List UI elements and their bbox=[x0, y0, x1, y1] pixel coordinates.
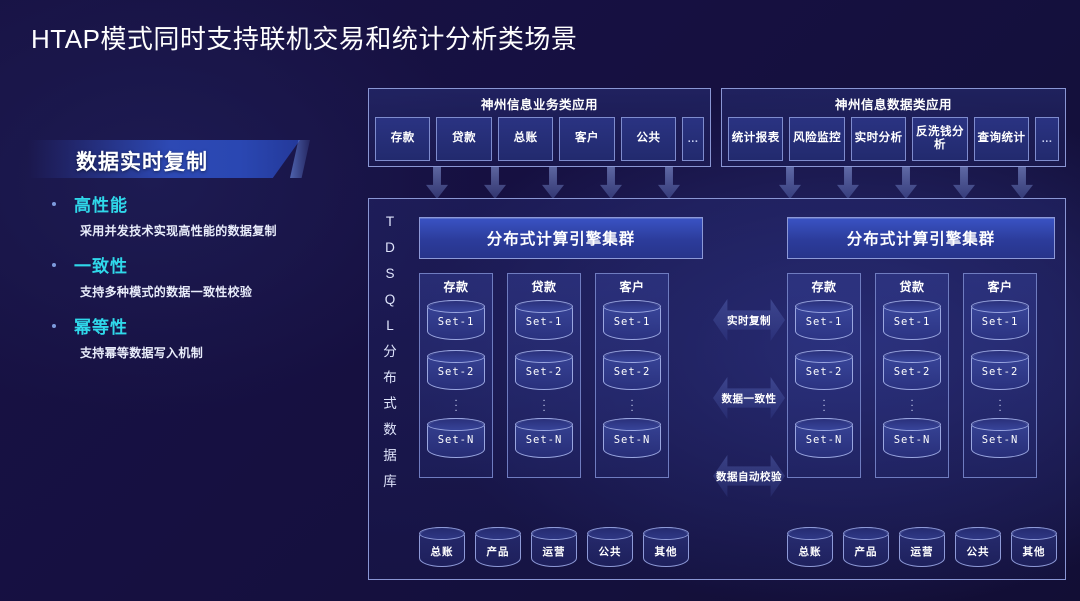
feature-item-high-performance: 高性能 采用并发技术实现高性能的数据复制 bbox=[52, 191, 360, 239]
feature-title: 一致性 bbox=[74, 252, 360, 277]
set-columns: 存款 Set-1 Set-2 ... Set-N 贷款 Set-1 Set-2 … bbox=[787, 273, 1055, 478]
app-group-title: 神州信息数据类应用 bbox=[728, 94, 1059, 113]
set-label: Set-N bbox=[428, 434, 484, 446]
bottom-cylinder: 运营 bbox=[899, 527, 945, 567]
set-column: 客户 Set-1 Set-2 ... Set-N bbox=[963, 273, 1037, 478]
arrow-down-icon bbox=[779, 167, 801, 199]
arrow-down-icon bbox=[1011, 167, 1033, 199]
bottom-cylinders-right: 总账 产品 运营 公共 其他 bbox=[787, 527, 1057, 567]
page-title: HTAP模式同时支持联机交易和统计分析类场景 bbox=[31, 19, 577, 56]
sync-arrow-label: 数据一致性 bbox=[722, 391, 777, 406]
set-label: Set-N bbox=[516, 434, 572, 446]
engine-bar: 分布式计算引擎集群 bbox=[419, 217, 703, 259]
set-cylinder: Set-2 bbox=[427, 350, 485, 390]
vertical-dots-icon: ... bbox=[910, 396, 913, 411]
sync-arrow-label: 实时复制 bbox=[727, 313, 771, 328]
feature-item-consistency: 一致性 支持多种模式的数据一致性校验 bbox=[52, 252, 360, 300]
bottom-cylinder-label: 运营 bbox=[532, 544, 576, 559]
set-label: Set-1 bbox=[428, 316, 484, 328]
set-columns: 存款 Set-1 Set-2 ... Set-N 贷款 Set-1 Set-2 … bbox=[419, 273, 703, 478]
arrow-down-icon bbox=[542, 167, 564, 199]
tdsql-vertical-label: T D S Q L 分 布 式 数 据 库 bbox=[379, 209, 401, 495]
bottom-cylinders-left: 总账 产品 运营 公共 其他 bbox=[419, 527, 689, 567]
tdsql-label-char: 布 bbox=[379, 365, 401, 391]
cluster-right: 分布式计算引擎集群 存款 Set-1 Set-2 ... Set-N 贷款 Se… bbox=[787, 217, 1055, 478]
bottom-cylinder: 总账 bbox=[787, 527, 833, 567]
set-cylinder: Set-1 bbox=[603, 300, 661, 340]
set-cylinder: Set-N bbox=[971, 418, 1029, 458]
bottom-cylinder-label: 其他 bbox=[1012, 544, 1056, 559]
tdsql-label-char: 式 bbox=[379, 391, 401, 417]
tdsql-label-char: Q bbox=[379, 287, 401, 313]
set-label: Set-N bbox=[796, 434, 852, 446]
app-cell: 风险监控 bbox=[789, 117, 844, 161]
set-cylinder: Set-1 bbox=[795, 300, 853, 340]
vertical-dots-icon: ... bbox=[542, 396, 545, 411]
arrow-down-icon bbox=[600, 167, 622, 199]
app-group-business: 神州信息业务类应用 存款 贷款 总账 客户 公共 ... bbox=[368, 88, 711, 167]
app-cell: 统计报表 bbox=[728, 117, 783, 161]
arrow-down-icon bbox=[895, 167, 917, 199]
set-label: Set-1 bbox=[884, 316, 940, 328]
set-cylinder: Set-N bbox=[515, 418, 573, 458]
set-cylinder: Set-N bbox=[883, 418, 941, 458]
bullet-dot-icon bbox=[52, 202, 56, 206]
app-cell: 客户 bbox=[559, 117, 614, 161]
feature-title: 高性能 bbox=[74, 191, 360, 216]
app-row: 存款 贷款 总账 客户 公共 ... bbox=[375, 117, 704, 161]
bottom-cylinder: 公共 bbox=[955, 527, 1001, 567]
arrow-row-data bbox=[721, 167, 1066, 199]
feature-description: 支持幂等数据写入机制 bbox=[80, 344, 360, 361]
arrow-down-icon bbox=[837, 167, 859, 199]
bottom-cylinder: 运营 bbox=[531, 527, 577, 567]
architecture-diagram: 神州信息业务类应用 存款 贷款 总账 客户 公共 ... 神州信息数据类应用 统… bbox=[368, 88, 1066, 580]
app-cell-ellipsis: ... bbox=[1035, 117, 1059, 161]
set-label: Set-2 bbox=[516, 366, 572, 378]
set-cylinder: Set-2 bbox=[883, 350, 941, 390]
set-cylinder: Set-2 bbox=[603, 350, 661, 390]
sync-arrow-auto-verification: 数据自动校验 bbox=[713, 455, 785, 497]
bottom-cylinder: 其他 bbox=[643, 527, 689, 567]
set-label: Set-2 bbox=[428, 366, 484, 378]
bottom-cylinder-label: 产品 bbox=[476, 544, 520, 559]
tdsql-label-char: 分 bbox=[379, 339, 401, 365]
app-group-title: 神州信息业务类应用 bbox=[375, 94, 704, 113]
bottom-cylinder: 产品 bbox=[475, 527, 521, 567]
set-cylinder: Set-N bbox=[603, 418, 661, 458]
tdsql-label-char: 数 bbox=[379, 417, 401, 443]
set-column: 存款 Set-1 Set-2 ... Set-N bbox=[787, 273, 861, 478]
set-cylinder: Set-2 bbox=[515, 350, 573, 390]
set-cylinder: Set-1 bbox=[515, 300, 573, 340]
app-cell: 实时分析 bbox=[851, 117, 906, 161]
set-label: Set-2 bbox=[796, 366, 852, 378]
feature-title: 幂等性 bbox=[74, 313, 360, 338]
sync-arrows-group: 实时复制 数据一致性 数据自动校验 bbox=[713, 299, 785, 533]
vertical-dots-icon: ... bbox=[822, 396, 825, 411]
set-column: 贷款 Set-1 Set-2 ... Set-N bbox=[507, 273, 581, 478]
app-cell: 反洗钱分析 bbox=[912, 117, 967, 161]
set-column-title: 客户 bbox=[987, 278, 1012, 295]
bottom-cylinder: 其他 bbox=[1011, 527, 1057, 567]
bottom-cylinder: 公共 bbox=[587, 527, 633, 567]
left-feature-panel: 数据实时复制 高性能 采用并发技术实现高性能的数据复制 一致性 支持多种模式的数… bbox=[0, 140, 360, 361]
set-cylinder: Set-1 bbox=[971, 300, 1029, 340]
set-column: 贷款 Set-1 Set-2 ... Set-N bbox=[875, 273, 949, 478]
feature-item-idempotency: 幂等性 支持幂等数据写入机制 bbox=[52, 313, 360, 361]
set-label: Set-1 bbox=[604, 316, 660, 328]
tdsql-label-char: L bbox=[379, 313, 401, 339]
app-row: 统计报表 风险监控 实时分析 反洗钱分析 查询统计 ... bbox=[728, 117, 1059, 161]
app-cell: 贷款 bbox=[436, 117, 491, 161]
set-label: Set-1 bbox=[972, 316, 1028, 328]
bottom-cylinder-label: 公共 bbox=[956, 544, 1000, 559]
set-column-title: 客户 bbox=[619, 278, 644, 295]
app-cell: 公共 bbox=[621, 117, 676, 161]
set-label: Set-1 bbox=[796, 316, 852, 328]
tdsql-panel: T D S Q L 分 布 式 数 据 库 分布式计算引擎集群 存款 Set-1… bbox=[368, 198, 1066, 580]
bottom-cylinder-label: 总账 bbox=[420, 544, 464, 559]
tdsql-label-char: S bbox=[379, 261, 401, 287]
vertical-dots-icon: ... bbox=[630, 396, 633, 411]
bottom-cylinder-label: 运营 bbox=[900, 544, 944, 559]
set-cylinder: Set-2 bbox=[971, 350, 1029, 390]
set-column-title: 贷款 bbox=[531, 278, 556, 295]
set-label: Set-2 bbox=[604, 366, 660, 378]
bottom-cylinder: 产品 bbox=[843, 527, 889, 567]
cluster-left: 分布式计算引擎集群 存款 Set-1 Set-2 ... Set-N 贷款 Se… bbox=[419, 217, 703, 478]
set-column-title: 贷款 bbox=[899, 278, 924, 295]
set-label: Set-N bbox=[604, 434, 660, 446]
set-cylinder: Set-1 bbox=[427, 300, 485, 340]
set-label: Set-N bbox=[972, 434, 1028, 446]
arrow-down-icon bbox=[484, 167, 506, 199]
arrow-row-business bbox=[368, 167, 711, 199]
engine-bar: 分布式计算引擎集群 bbox=[787, 217, 1055, 259]
feature-description: 支持多种模式的数据一致性校验 bbox=[80, 283, 360, 300]
arrow-down-icon bbox=[953, 167, 975, 199]
set-label: Set-N bbox=[884, 434, 940, 446]
tdsql-label-char: 库 bbox=[379, 469, 401, 495]
section-banner-label: 数据实时复制 bbox=[76, 146, 208, 176]
set-label: Set-1 bbox=[516, 316, 572, 328]
tdsql-label-char: T bbox=[379, 209, 401, 235]
set-column-title: 存款 bbox=[811, 278, 836, 295]
bottom-cylinder: 总账 bbox=[419, 527, 465, 567]
app-cell: 总账 bbox=[498, 117, 553, 161]
section-banner: 数据实时复制 bbox=[28, 140, 300, 178]
sync-arrow-realtime-replication: 实时复制 bbox=[713, 299, 785, 341]
arrow-down-icon bbox=[658, 167, 680, 199]
bottom-cylinder-label: 公共 bbox=[588, 544, 632, 559]
set-cylinder: Set-1 bbox=[883, 300, 941, 340]
set-column: 存款 Set-1 Set-2 ... Set-N bbox=[419, 273, 493, 478]
feature-description: 采用并发技术实现高性能的数据复制 bbox=[80, 222, 360, 239]
sync-arrow-label: 数据自动校验 bbox=[716, 469, 782, 484]
set-label: Set-2 bbox=[972, 366, 1028, 378]
vertical-dots-icon: ... bbox=[454, 396, 457, 411]
bullet-dot-icon bbox=[52, 324, 56, 328]
set-column: 客户 Set-1 Set-2 ... Set-N bbox=[595, 273, 669, 478]
app-cell: 存款 bbox=[375, 117, 430, 161]
set-cylinder: Set-2 bbox=[795, 350, 853, 390]
tdsql-label-char: D bbox=[379, 235, 401, 261]
set-cylinder: Set-N bbox=[427, 418, 485, 458]
bottom-cylinder-label: 产品 bbox=[844, 544, 888, 559]
sync-arrow-data-consistency: 数据一致性 bbox=[713, 377, 785, 419]
bottom-cylinder-label: 其他 bbox=[644, 544, 688, 559]
arrow-down-icon bbox=[426, 167, 448, 199]
set-column-title: 存款 bbox=[443, 278, 468, 295]
vertical-dots-icon: ... bbox=[998, 396, 1001, 411]
bullet-dot-icon bbox=[52, 263, 56, 267]
app-cell: 查询统计 bbox=[974, 117, 1029, 161]
bottom-cylinder-label: 总账 bbox=[788, 544, 832, 559]
app-group-data: 神州信息数据类应用 统计报表 风险监控 实时分析 反洗钱分析 查询统计 ... bbox=[721, 88, 1066, 167]
app-cell-ellipsis: ... bbox=[682, 117, 704, 161]
set-cylinder: Set-N bbox=[795, 418, 853, 458]
tdsql-label-char: 据 bbox=[379, 443, 401, 469]
set-label: Set-2 bbox=[884, 366, 940, 378]
